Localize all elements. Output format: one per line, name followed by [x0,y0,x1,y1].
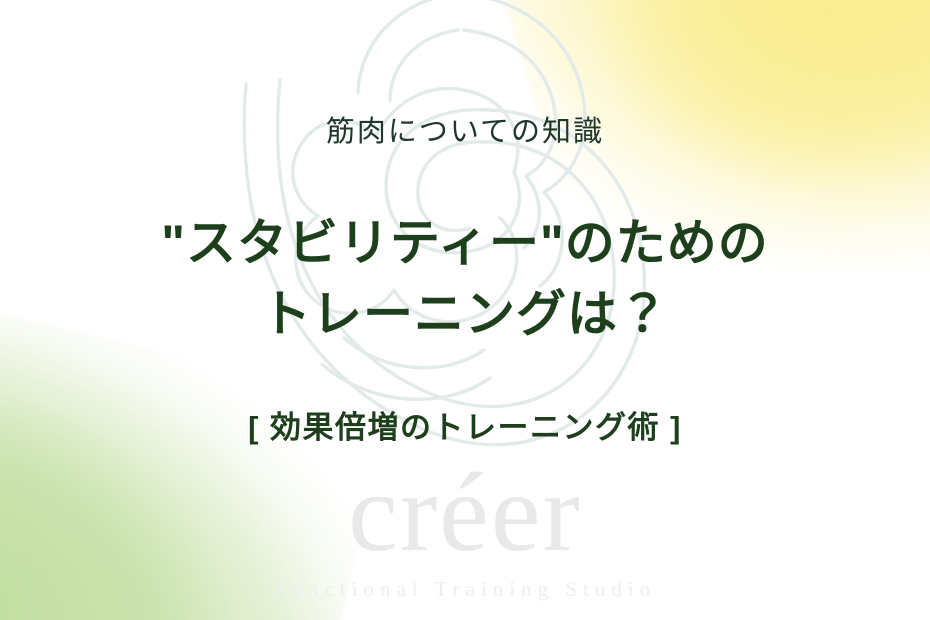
eyebrow-text: 筋肉についての知識 [326,114,604,150]
page-title-line-1: "スタビリティー"のための [161,208,768,279]
page-title: "スタビリティー"のための トレーニングは？ [161,208,768,350]
title-card: créer Functional Training Studio 筋肉についての… [0,0,930,620]
page-title-line-2: トレーニングは？ [161,279,768,350]
title-card-content: 筋肉についての知識 "スタビリティー"のための トレーニングは？ [ 効果倍増の… [0,0,930,620]
subtitle-bracketed: [ 効果倍増のトレーニング術 ] [248,408,682,448]
